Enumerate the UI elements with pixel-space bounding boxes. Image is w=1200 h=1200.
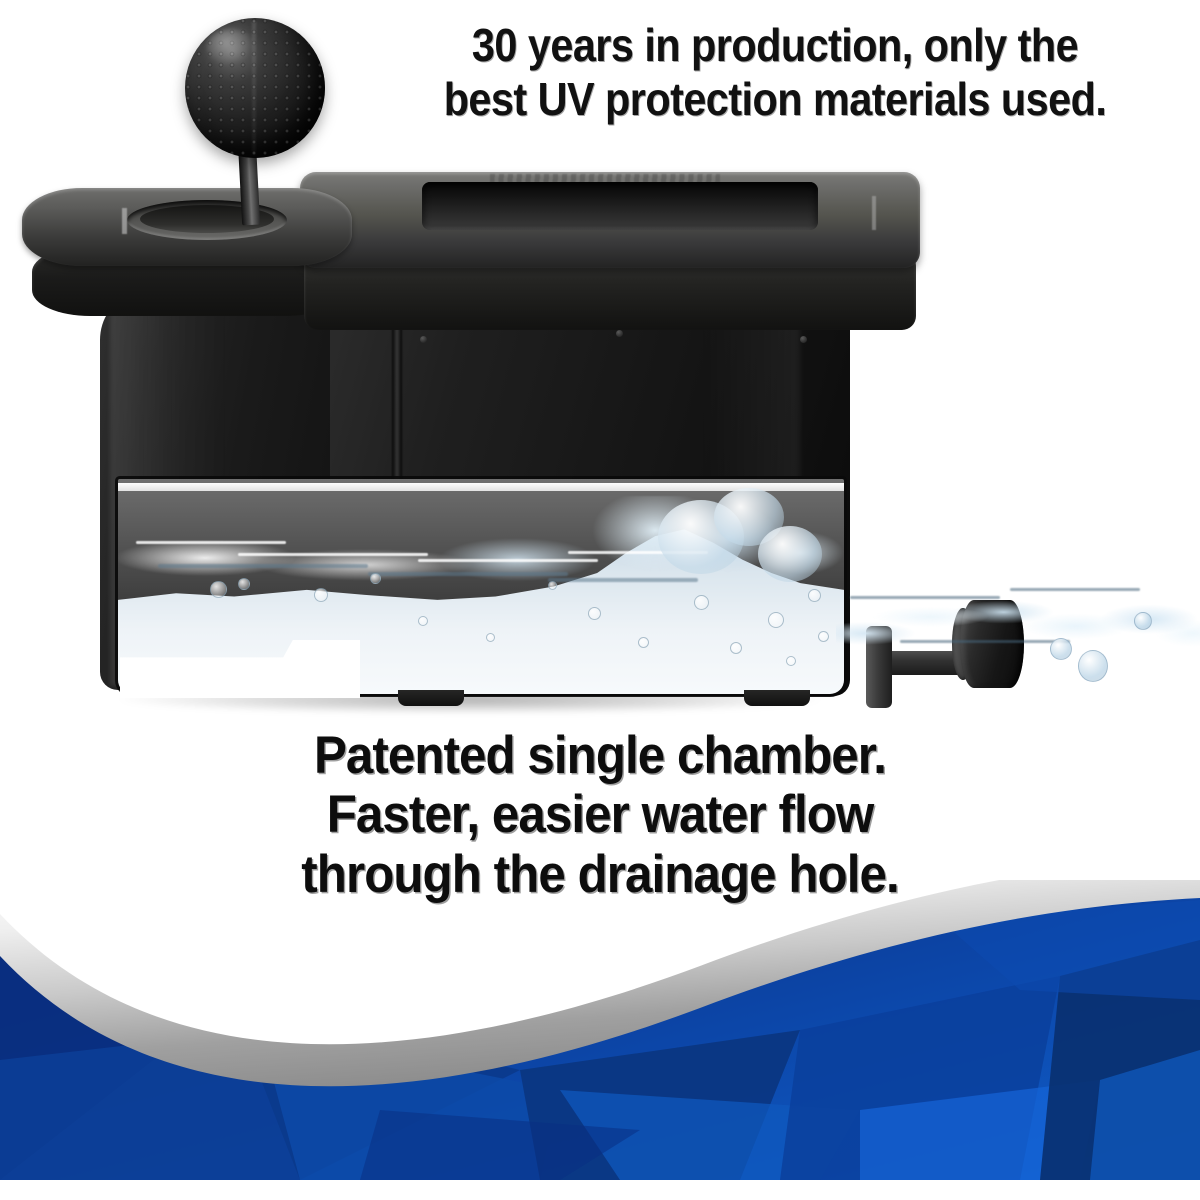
bubble [694, 595, 709, 610]
bubble [238, 578, 250, 590]
bubble [588, 607, 601, 620]
bubble [808, 589, 821, 602]
golf-ball-knob-icon[interactable] [185, 18, 325, 158]
bottom-white-edge [0, 1180, 1200, 1200]
tank-rivet [800, 336, 807, 343]
wave-streak [418, 559, 598, 562]
water-droplet [1050, 638, 1072, 660]
bottom-blue-banner [0, 880, 1200, 1180]
bubble [314, 588, 328, 602]
bubble [210, 581, 227, 598]
caption-text: Patented single chamber. Faster, easier … [163, 726, 1037, 904]
promo-image-canvas: 30 years in production, only the best UV… [0, 0, 1200, 1200]
caption-line-1: Patented single chamber. [163, 726, 1037, 785]
jet-outline [900, 640, 1070, 643]
jet-outline [1010, 588, 1140, 591]
bubble [548, 581, 557, 590]
bubble [486, 633, 495, 642]
bubble [370, 573, 381, 584]
caption-line-2: Faster, easier water flow [163, 785, 1037, 844]
bubble [786, 656, 796, 666]
wave-shadow-line [158, 564, 368, 568]
water-droplet [1078, 650, 1108, 682]
base-foot [398, 690, 464, 706]
jet-outline [850, 596, 1000, 599]
golf-ball-seam [252, 21, 256, 155]
lid-side-marking [122, 208, 127, 234]
bubble [418, 616, 428, 626]
tank-rivet [420, 336, 427, 343]
wave-streak [238, 553, 428, 556]
bubble [818, 631, 829, 642]
large-lid[interactable] [300, 172, 920, 268]
wave-shadow-line [368, 572, 568, 576]
tank-rivet [616, 330, 623, 337]
lid-side-marking [872, 196, 876, 230]
wave-shadow-line [548, 578, 698, 582]
bubble [730, 642, 742, 654]
splash-blob [758, 526, 822, 582]
bubble [768, 612, 784, 628]
ball-washer-opening [422, 182, 818, 230]
small-lid[interactable] [22, 188, 352, 266]
bubble [638, 637, 649, 648]
water-droplet [1134, 612, 1152, 630]
base-foot [744, 690, 810, 706]
wave-streak [136, 541, 286, 544]
